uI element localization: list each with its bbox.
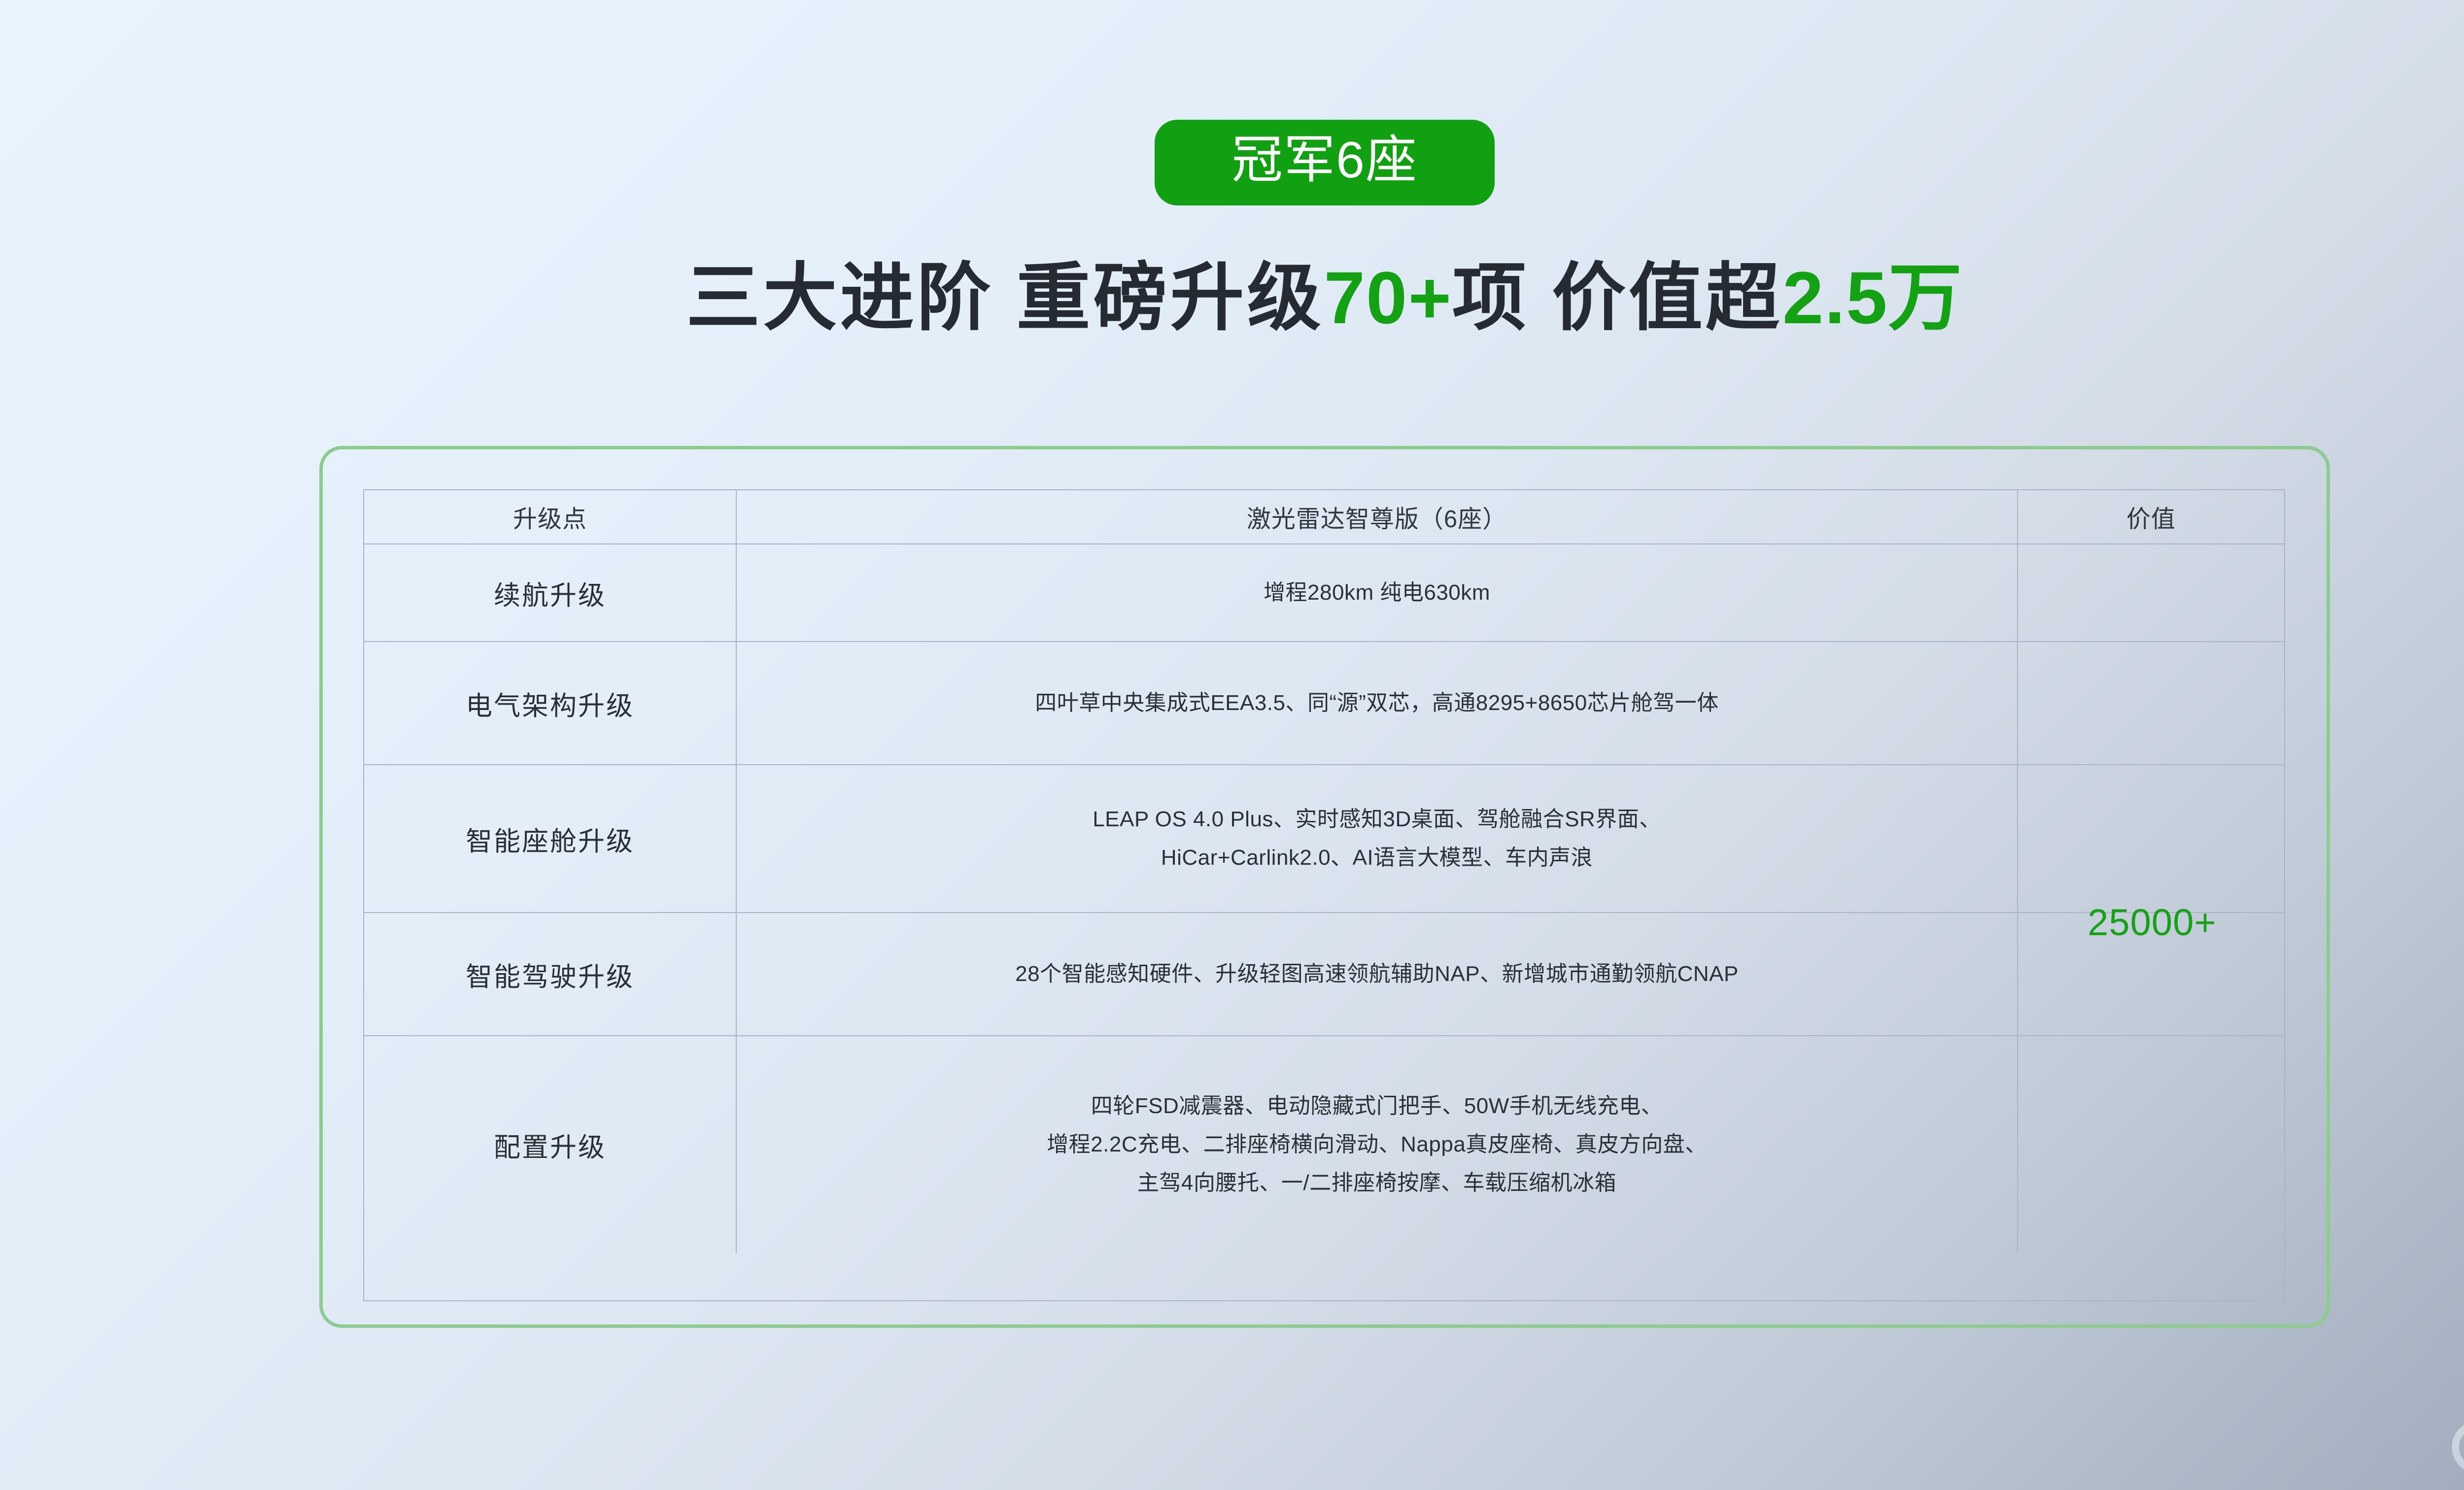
table-row: 智能驾驶升级 28个智能感知硬件、升级轻图高速领航辅助NAP、新增城市通勤领航C… [364,913,2284,1036]
headline-accent-value: 2.5万 [1782,256,1963,339]
row-point-label: 续航升级 [364,544,737,641]
row-spec-cell: 增程280km 纯电630km [737,544,2018,641]
column-header-spec: 激光雷达智尊版（6座） [737,490,2018,543]
row-spec-cell: 四叶草中央集成式EEA3.5、同“源”双芯，高通8295+8650芯片舱驾一体 [737,642,2018,764]
row-spec-cell: 四轮FSD减震器、电动隐藏式门把手、50W手机无线充电、 增程2.2C充电、二排… [737,1036,2018,1253]
table-row: 配置升级 四轮FSD减震器、电动隐藏式门把手、50W手机无线充电、 增程2.2C… [364,1036,2284,1253]
row-value-cell [2018,544,2284,641]
badge-container: 冠军6座 [0,120,2464,205]
table-header-row: 升级点 激光雷达智尊版（6座） 价值 [364,490,2284,544]
table-row: 智能座舱升级 LEAP OS 4.0 Plus、实时感知3D桌面、驾舱融合SR界… [364,765,2284,913]
headline-accent-count: 70+ [1324,256,1452,339]
row-value-cell [2018,913,2284,1035]
table-row: 续航升级 增程280km 纯电630km [364,544,2284,642]
upgrade-table: 升级点 激光雷达智尊版（6座） 价值 续航升级 增程280km 纯电630km … [363,489,2285,1301]
row-point-label: 配置升级 [364,1036,737,1253]
yiche-circle-logo-icon [2448,1417,2464,1477]
row-point-label: 电气架构升级 [364,642,737,764]
row-point-label: 智能驾驶升级 [364,913,737,1035]
headline-part-4: 价值超 [1552,256,1782,339]
headline-part-2: 重磅升级 [1016,256,1324,339]
row-spec-cell: LEAP OS 4.0 Plus、实时感知3D桌面、驾舱融合SR界面、 HiCa… [737,765,2018,912]
watermark: 易车 [2448,1417,2464,1477]
headline-part-1: 三大进阶 [686,256,993,339]
row-spec-cell: 28个智能感知硬件、升级轻图高速领航辅助NAP、新增城市通勤领航CNAP [737,913,2018,1035]
table-row: 电气架构升级 四叶草中央集成式EEA3.5、同“源”双芯，高通8295+8650… [364,642,2284,765]
trim-badge: 冠军6座 [1155,120,1495,205]
row-value-cell [2018,1036,2284,1253]
column-header-point: 升级点 [364,490,737,543]
row-value-cell [2018,765,2284,912]
page-title: 三大进阶重磅升级70+项价值超2.5万 [0,256,2464,339]
row-point-label: 智能座舱升级 [364,765,737,912]
headline-part-3: 项 [1452,256,1529,339]
column-header-value: 价值 [2018,490,2284,543]
row-value-cell [2018,642,2284,764]
